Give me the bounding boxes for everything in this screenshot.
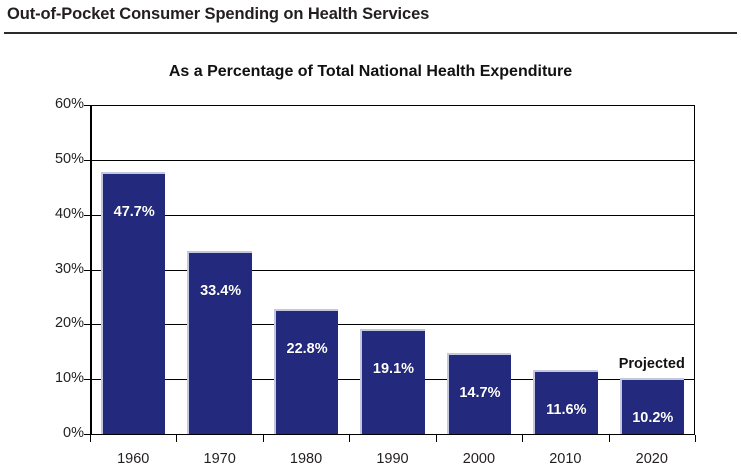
x-axis-label: 1990 [349, 451, 435, 467]
bar-value-label: 33.4% [189, 283, 251, 299]
y-axis-label: 0% [38, 425, 84, 441]
y-axis-label: 60% [38, 96, 84, 112]
x-axis-label: 2020 [609, 451, 695, 467]
header-band: Out-of-Pocket Consumer Spending on Healt… [0, 0, 741, 36]
x-axis-tick [436, 435, 437, 442]
projected-annotation: Projected [609, 356, 695, 372]
page-title: Out-of-Pocket Consumer Spending on Healt… [7, 5, 429, 24]
bar: 33.4% [187, 251, 251, 434]
bar-value-label: 47.7% [103, 204, 165, 220]
x-axis-tick [522, 435, 523, 442]
y-axis-label: 10% [38, 370, 84, 386]
y-axis-label: 40% [38, 206, 84, 222]
gridline [90, 215, 695, 216]
x-axis-label: 1960 [90, 451, 176, 467]
bar: 47.7% [101, 172, 165, 434]
y-axis-tick [84, 215, 91, 216]
y-axis-tick [84, 379, 91, 380]
y-axis-tick [84, 160, 91, 161]
x-axis-tick [176, 435, 177, 442]
x-axis-label: 2010 [522, 451, 608, 467]
y-axis-label: 20% [38, 315, 84, 331]
y-axis-label: 50% [38, 151, 84, 167]
bar-value-label: 22.8% [276, 341, 338, 357]
bar: 19.1% [360, 329, 424, 434]
gridline [90, 105, 695, 106]
plot-area: 47.7%196033.4%197022.8%198019.1%199014.7… [90, 105, 695, 434]
bar: 11.6% [533, 370, 597, 434]
header-divider [4, 32, 737, 34]
y-axis-tick [84, 324, 91, 325]
chart-title: As a Percentage of Total National Health… [0, 63, 741, 81]
x-axis-tick [609, 435, 610, 442]
bar-value-label: 14.7% [449, 385, 511, 401]
gridline [90, 160, 695, 161]
gridline [90, 324, 695, 325]
y-axis-tick [84, 270, 91, 271]
x-axis-label: 1970 [176, 451, 262, 467]
y-axis-tick [84, 105, 91, 106]
bar: 22.8% [274, 309, 338, 434]
x-axis-tick [695, 435, 696, 442]
x-axis-label: 1980 [263, 451, 349, 467]
bar-chart: As a Percentage of Total National Health… [0, 36, 741, 468]
bar-value-label: 10.2% [622, 410, 684, 426]
bar: 14.7% [447, 353, 511, 434]
bar: 10.2% [620, 378, 684, 434]
y-axis-labels: 60%50%40%30%20%10%0% [30, 105, 84, 445]
gridline [90, 434, 695, 435]
bar-value-label: 19.1% [362, 361, 424, 377]
bar-value-label: 11.6% [535, 402, 597, 418]
y-axis-label: 30% [38, 261, 84, 277]
x-axis-tick [263, 435, 264, 442]
x-axis-label: 2000 [436, 451, 522, 467]
x-axis-tick [90, 435, 91, 442]
gridline [90, 270, 695, 271]
x-axis-tick [349, 435, 350, 442]
